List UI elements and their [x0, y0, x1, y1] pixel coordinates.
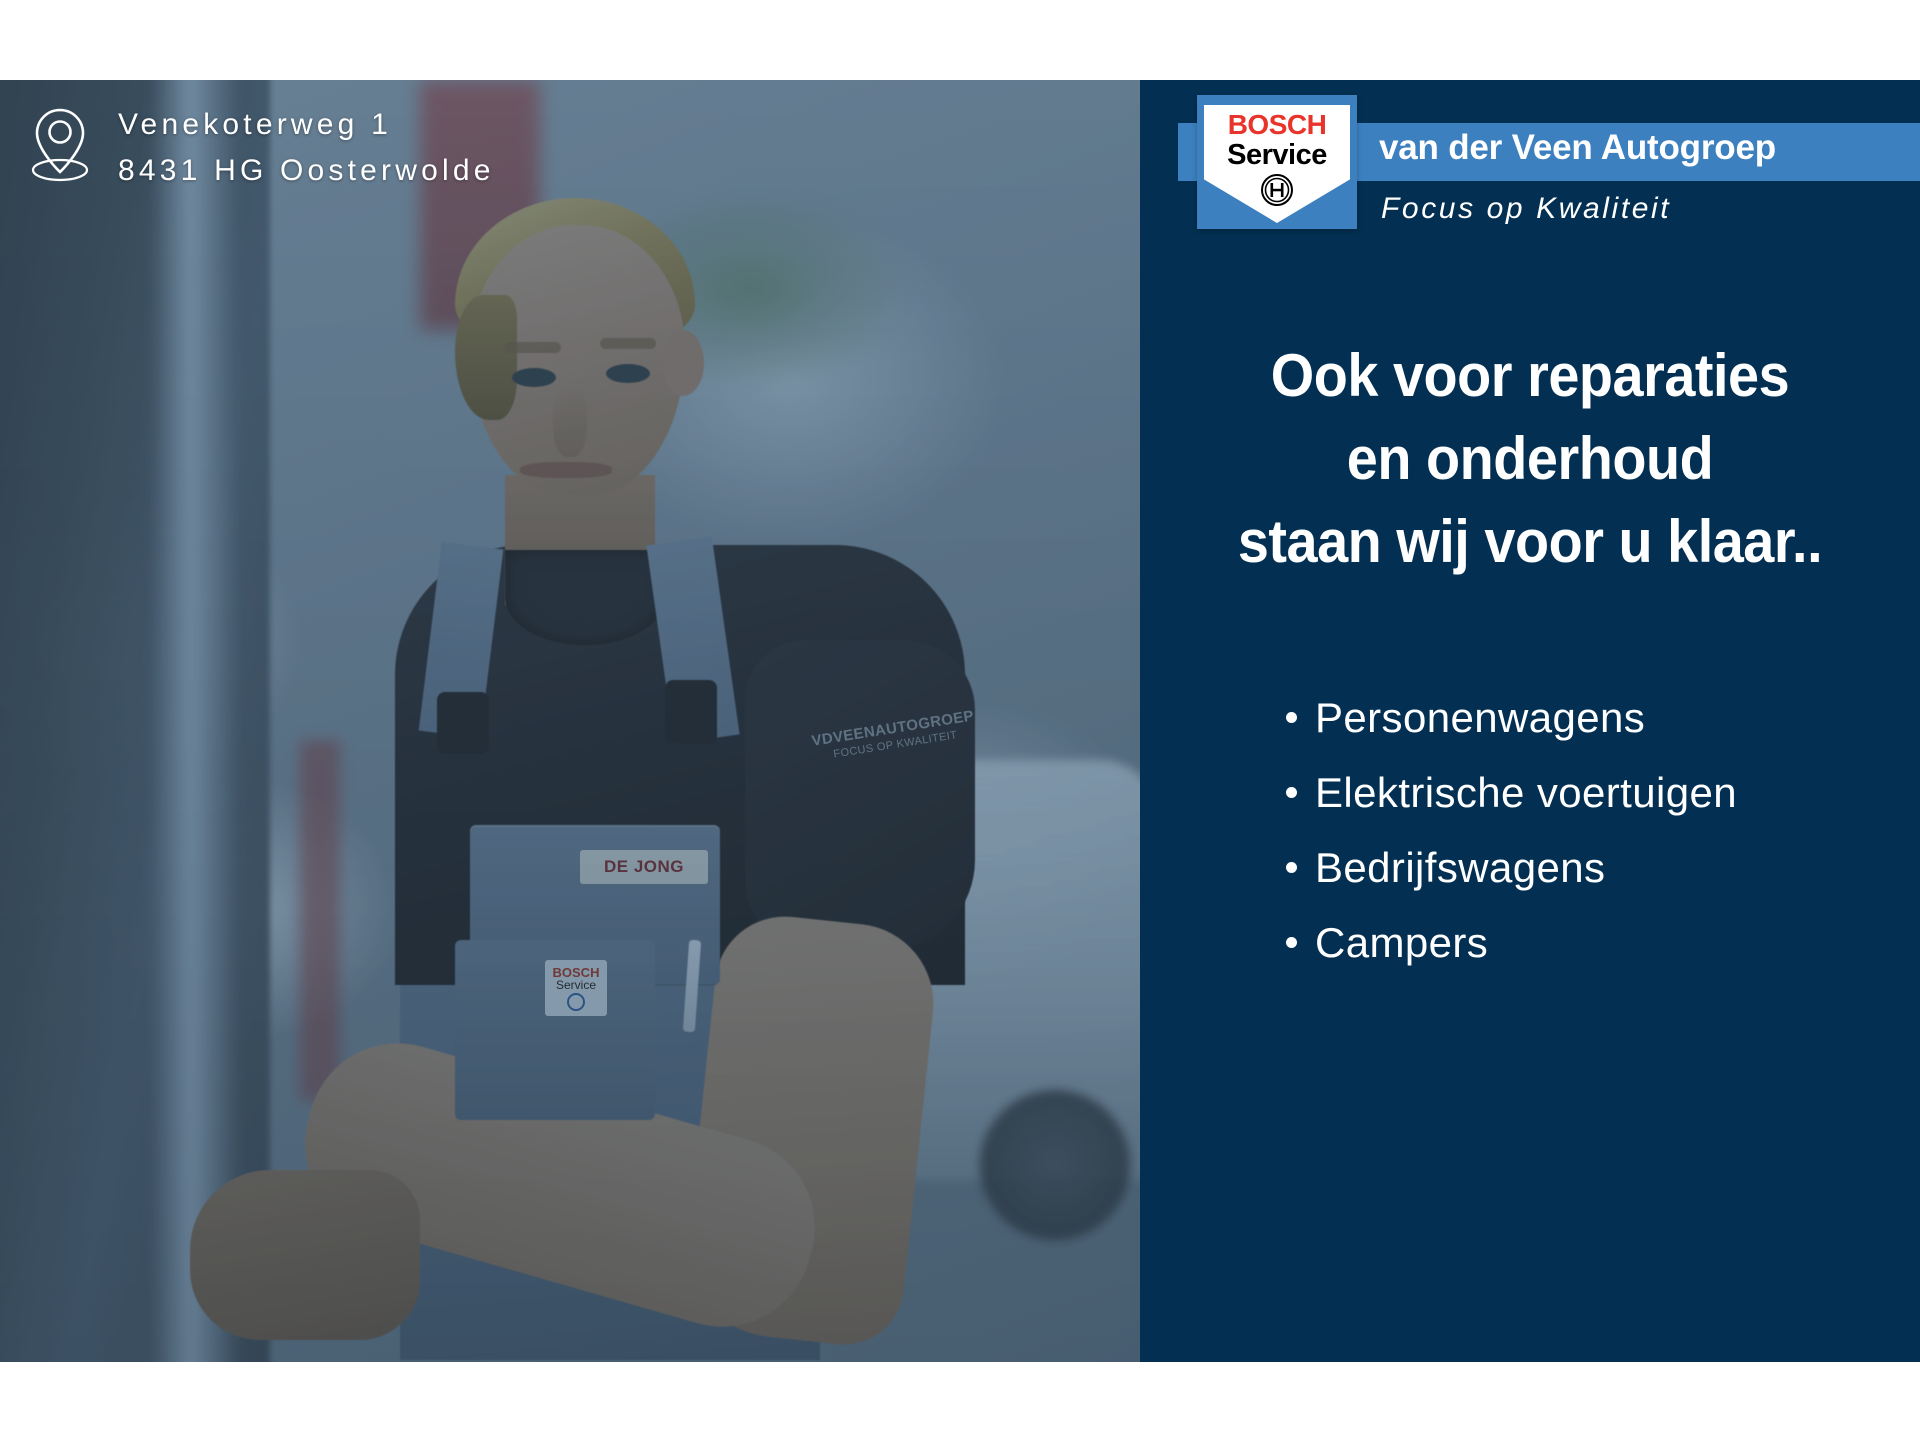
address-city: 8431 HG Oosterwolde — [118, 148, 495, 194]
workshop-photo-panel: DE JONG BOSCH Service VDVEENAUTOGROEP FO… — [0, 80, 1140, 1362]
list-item: Bedrijfswagens — [1286, 830, 1737, 905]
location-pin-icon — [28, 106, 92, 190]
bullet-dot-icon — [1286, 937, 1297, 948]
bosch-service-logo: BOSCH Service — [1197, 95, 1357, 229]
service-label: Bedrijfswagens — [1315, 844, 1605, 892]
list-item: Campers — [1286, 905, 1737, 980]
service-label: Personenwagens — [1315, 694, 1645, 742]
address-block: Venekoterweg 1 8431 HG Oosterwolde — [28, 102, 495, 193]
address-street: Venekoterweg 1 — [118, 102, 495, 148]
headline-line-2: en onderhoud — [1167, 418, 1892, 501]
service-label: Campers — [1315, 919, 1488, 967]
advertisement-banner: DE JONG BOSCH Service VDVEENAUTOGROEP FO… — [0, 80, 1920, 1362]
bullet-dot-icon — [1286, 862, 1297, 873]
headline-line-3: staan wij voor u klaar.. — [1167, 501, 1892, 584]
bullet-dot-icon — [1286, 787, 1297, 798]
info-panel: BOSCH Service van der Veen Autogroep Foc… — [1140, 80, 1920, 1362]
headline-line-1: Ook voor reparaties — [1167, 335, 1892, 418]
company-name: van der Veen Autogroep — [1379, 128, 1776, 168]
service-wordmark: Service — [1227, 141, 1327, 170]
bosch-wordmark: BOSCH — [1228, 111, 1327, 139]
bullet-dot-icon — [1286, 712, 1297, 723]
headline: Ook voor reparaties en onderhoud staan w… — [1167, 335, 1892, 583]
bosch-logo-shield: BOSCH Service — [1204, 105, 1350, 223]
service-label: Elektrische voertuigen — [1315, 769, 1737, 817]
company-tagline: Focus op Kwaliteit — [1381, 192, 1671, 226]
address-text: Venekoterweg 1 8431 HG Oosterwolde — [118, 102, 495, 193]
services-list: Personenwagens Elektrische voertuigen Be… — [1286, 680, 1737, 980]
photo-haze-overlay — [0, 80, 1140, 1362]
list-item: Personenwagens — [1286, 680, 1737, 755]
list-item: Elektrische voertuigen — [1286, 755, 1737, 830]
bosch-armature-icon — [1260, 173, 1294, 211]
